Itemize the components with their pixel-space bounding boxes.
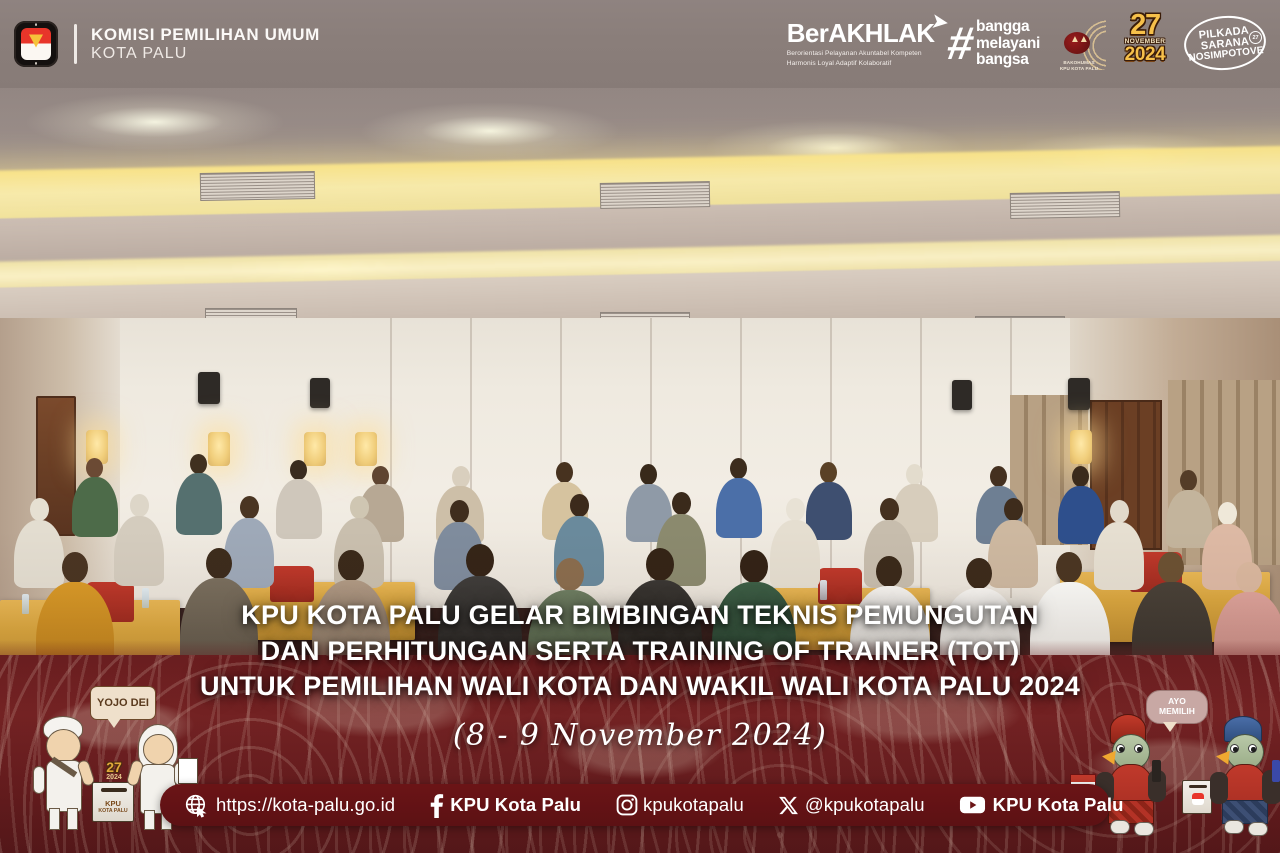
election-date-year: 2024	[1118, 46, 1172, 64]
bakohumas-caption-line2: KPU KOTA PALU	[1050, 66, 1108, 72]
crowd-person	[990, 466, 1007, 487]
crowd-person	[672, 492, 691, 515]
crowd-person-front	[338, 550, 364, 581]
footer-youtube[interactable]: KPU Kota Palu	[959, 794, 1124, 816]
berakhlak-wordmark-wrap: BerAKHLAK ➤	[787, 20, 935, 46]
title-line-2: DAN PERHITUNGAN SERTA TRAINING OF TRAINE…	[0, 634, 1280, 670]
mascot-badge-day-left: 27	[100, 760, 128, 774]
social-media-footer-bar: https://kota-palu.go.id KPU Kota Palu kp…	[160, 784, 1110, 826]
title-line-1: KPU KOTA PALU GELAR BIMBINGAN TEKNIS PEM…	[0, 598, 1280, 634]
ceiling-vent	[200, 171, 315, 201]
footer-website-label: https://kota-palu.go.id	[216, 794, 395, 816]
kpu-emblem-dots	[14, 21, 58, 67]
youtube-icon	[959, 795, 986, 815]
header-divider	[74, 24, 77, 64]
crowd-person-front	[966, 558, 992, 589]
crowd-person-front	[740, 550, 768, 583]
crowd-person	[1166, 490, 1212, 548]
bakohumas-people-glyph: ▲▲	[1070, 34, 1088, 45]
maleo-bird-foot-left2	[1224, 820, 1244, 834]
crowd-person	[114, 516, 164, 586]
title-date-line: (8 - 9 November 2024)	[0, 718, 1280, 753]
election-date-badge: 27 NOVEMBER 2024	[1118, 13, 1172, 75]
bakohumas-logo: ▲▲ BAKOHUMAS KPU KOTA PALU	[1050, 15, 1108, 73]
crowd-person-front	[1056, 552, 1082, 583]
crowd-person	[730, 458, 747, 479]
crowd-person	[556, 462, 573, 483]
pilkada-badge-text: PILKADA SARANA NOSIMPOTOVE	[1179, 10, 1271, 79]
wall-speaker	[1068, 378, 1090, 410]
footer-website[interactable]: https://kota-palu.go.id	[184, 793, 395, 818]
facebook-icon	[429, 793, 445, 818]
crowd-person	[276, 479, 322, 539]
hashtag-icon: #	[946, 27, 974, 60]
berakhlak-logo: BerAKHLAK ➤ Berorientasi Pelayanan Akunt…	[787, 20, 935, 67]
instagram-icon	[615, 793, 639, 817]
footer-facebook[interactable]: KPU Kota Palu	[429, 793, 581, 818]
crowd-person	[1072, 466, 1089, 487]
mascot-date-badge-left: 27 2024	[100, 760, 128, 781]
berakhlak-subtitle-line2: Harmonis Loyal Adaptif Kolaboratif	[787, 59, 935, 68]
bangga-line2: melayani	[976, 36, 1040, 53]
crowd-person	[906, 464, 923, 485]
ballot-box-label-line2: KOTA PALU	[93, 808, 133, 814]
election-date-day: 27	[1118, 13, 1172, 38]
wall-speaker	[310, 378, 330, 408]
crowd-person	[450, 500, 469, 523]
bangga-line1: bangga	[976, 19, 1040, 36]
ceiling-vent	[600, 181, 710, 209]
mascot-girl-leg-left	[144, 810, 155, 830]
maleo-bird-held-pen	[1272, 760, 1280, 782]
berakhlak-wordmark: BerAKHLAK	[787, 18, 935, 48]
chevron-arrow-icon: ➤	[931, 12, 949, 33]
maleo-bird-held-flag	[1152, 760, 1161, 782]
wall-speaker	[952, 380, 972, 410]
crowd-person	[1004, 498, 1023, 521]
mascot-boy-arm-left	[33, 766, 45, 794]
crowd-person	[86, 458, 103, 478]
crowd-person	[1218, 502, 1237, 525]
berakhlak-subtitle-line1: Berorientasi Pelayanan Akuntabel Kompete…	[787, 49, 935, 58]
pilkada-line3: NOSIMPOTOVE	[1188, 46, 1264, 64]
crowd-person	[350, 496, 369, 519]
crowd-person	[820, 462, 837, 483]
bangga-words: bangga melayani bangsa	[976, 19, 1040, 69]
mascot-girl-ballot-card	[178, 758, 198, 784]
pilkada-corner-mark: 27	[1249, 31, 1262, 44]
footer-instagram[interactable]: kpukotapalu	[615, 793, 744, 817]
poster-header-bar: KOMISI PEMILIHAN UMUM KOTA PALU BerAKHLA…	[0, 0, 1280, 88]
crowd-person-front	[62, 552, 88, 583]
mascot-badge-year-left: 2024	[100, 774, 128, 781]
footer-x-twitter[interactable]: @kpukotapalu	[778, 794, 925, 816]
poster-title-block: KPU KOTA PALU GELAR BIMBINGAN TEKNIS PEM…	[0, 598, 1280, 753]
crowd-person	[176, 473, 222, 535]
crowd-person	[14, 520, 64, 588]
pilkada-slogan-badge: PILKADA SARANA NOSIMPOTOVE 27	[1182, 14, 1268, 74]
maleo-bird-foot-left	[1110, 820, 1130, 834]
globe-website-icon	[184, 793, 209, 818]
crowd-person	[988, 520, 1038, 588]
footer-youtube-label: KPU Kota Palu	[993, 794, 1124, 816]
crowd-person	[880, 498, 899, 521]
crowd-person	[1058, 486, 1104, 544]
crowd-person-front	[646, 548, 674, 581]
crowd-person	[1094, 522, 1144, 590]
crowd-person-front	[466, 544, 494, 577]
kpu-emblem-icon	[14, 21, 58, 67]
crowd-person	[786, 498, 805, 521]
ballot-box-right	[1182, 780, 1212, 814]
ballot-box-label-line1: KPU	[93, 799, 133, 808]
crowd-person-front	[876, 556, 902, 587]
crowd-person-front	[206, 548, 232, 579]
maleo-bird-foot-right2	[1248, 822, 1268, 836]
crowd-person	[1180, 470, 1197, 491]
maleo-bird-wing-left2	[1210, 772, 1228, 804]
bakohumas-caption: BAKOHUMAS KPU KOTA PALU	[1050, 60, 1108, 72]
x-twitter-icon	[778, 795, 799, 816]
ballot-slot	[1189, 785, 1207, 788]
crowd-person	[30, 498, 49, 521]
crowd-person	[372, 466, 389, 486]
crowd-person	[224, 518, 274, 588]
org-name-line1: KOMISI PEMILIHAN UMUM	[91, 26, 320, 44]
crowd-person	[130, 494, 149, 517]
crowd-person	[570, 494, 589, 517]
organization-name: KOMISI PEMILIHAN UMUM KOTA PALU	[91, 26, 320, 62]
crowd-person	[72, 477, 118, 537]
crowd-person-front	[1158, 552, 1184, 583]
crowd-person-front	[556, 558, 584, 591]
crowd-person	[290, 460, 307, 480]
crowd-person	[452, 466, 470, 488]
bangga-line3: bangsa	[976, 52, 1040, 69]
maleo-bird-foot-right	[1134, 822, 1154, 836]
ballot-slot	[101, 788, 127, 792]
crowd-person	[640, 464, 657, 485]
ballot-box-left: KPU KOTA PALU	[92, 782, 134, 822]
mascot-boy-leg-left	[49, 808, 60, 830]
footer-x-label: @kpukotapalu	[805, 794, 925, 816]
title-line-3: UNTUK PEMILIHAN WALI KOTA DAN WAKIL WALI…	[0, 669, 1280, 705]
crowd-person-front	[1236, 562, 1262, 593]
wall-speaker	[198, 372, 220, 404]
crowd-person	[1110, 500, 1129, 523]
kpu-emblem-small-icon	[1192, 793, 1204, 805]
mascot-boy-leg-right	[67, 808, 78, 830]
crowd-person	[190, 454, 207, 474]
poster-canvas: YOJO DEI 27 2024 KPU KOTA PALU	[0, 0, 1280, 853]
crowd-person	[770, 520, 820, 588]
org-name-line2: KOTA PALU	[91, 45, 320, 62]
bangga-melayani-bangsa-logo: # bangga melayani bangsa	[948, 19, 1040, 69]
header-logo-strip: BerAKHLAK ➤ Berorientasi Pelayanan Akunt…	[787, 13, 1280, 75]
ceiling-vent	[1010, 191, 1120, 219]
footer-facebook-label: KPU Kota Palu	[450, 794, 581, 816]
crowd-person	[716, 478, 762, 538]
footer-instagram-label: kpukotapalu	[643, 794, 744, 816]
crowd-person	[240, 496, 259, 519]
